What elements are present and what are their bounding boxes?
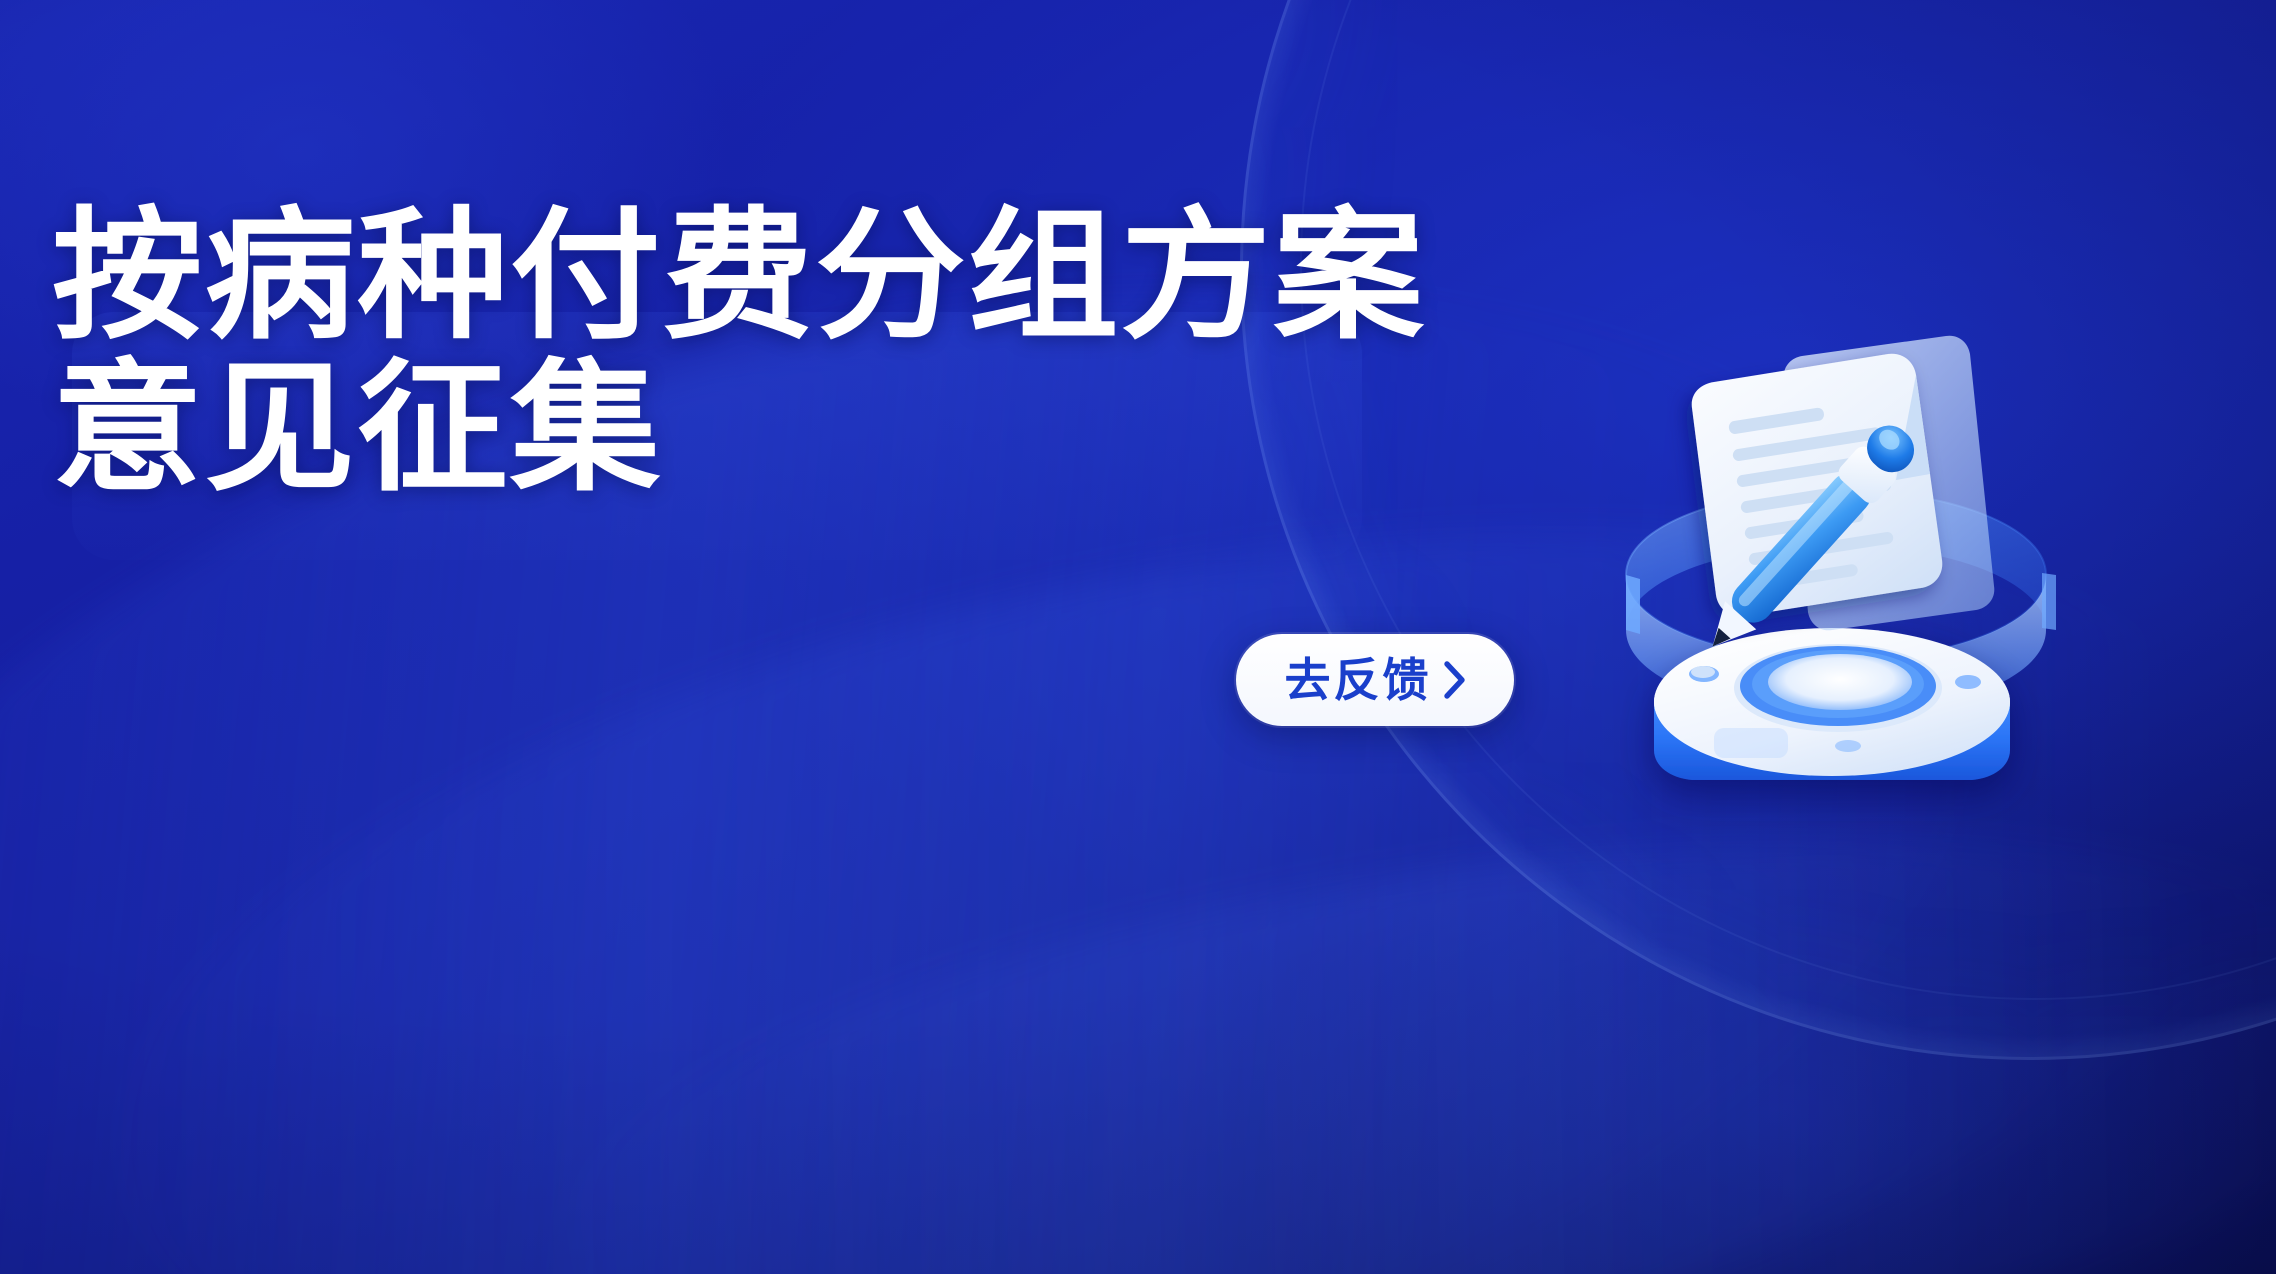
page-title: 按病种付费分组方案 意见征集	[52, 212, 1232, 494]
headline-line-1: 按病种付费分组方案	[52, 212, 1303, 342]
headline-line-2: 意见征集	[52, 364, 1303, 494]
promo-banner: 按病种付费分组方案 意见征集 去反馈	[0, 0, 2276, 1274]
chevron-right-icon	[1444, 661, 1466, 699]
document-icon	[1692, 354, 1943, 617]
base-platform-icon	[1654, 628, 2010, 780]
go-feedback-button[interactable]: 去反馈	[1236, 634, 1514, 726]
document-with-pen-illustration	[1596, 330, 2066, 890]
go-feedback-button-label: 去反馈	[1285, 657, 1432, 703]
